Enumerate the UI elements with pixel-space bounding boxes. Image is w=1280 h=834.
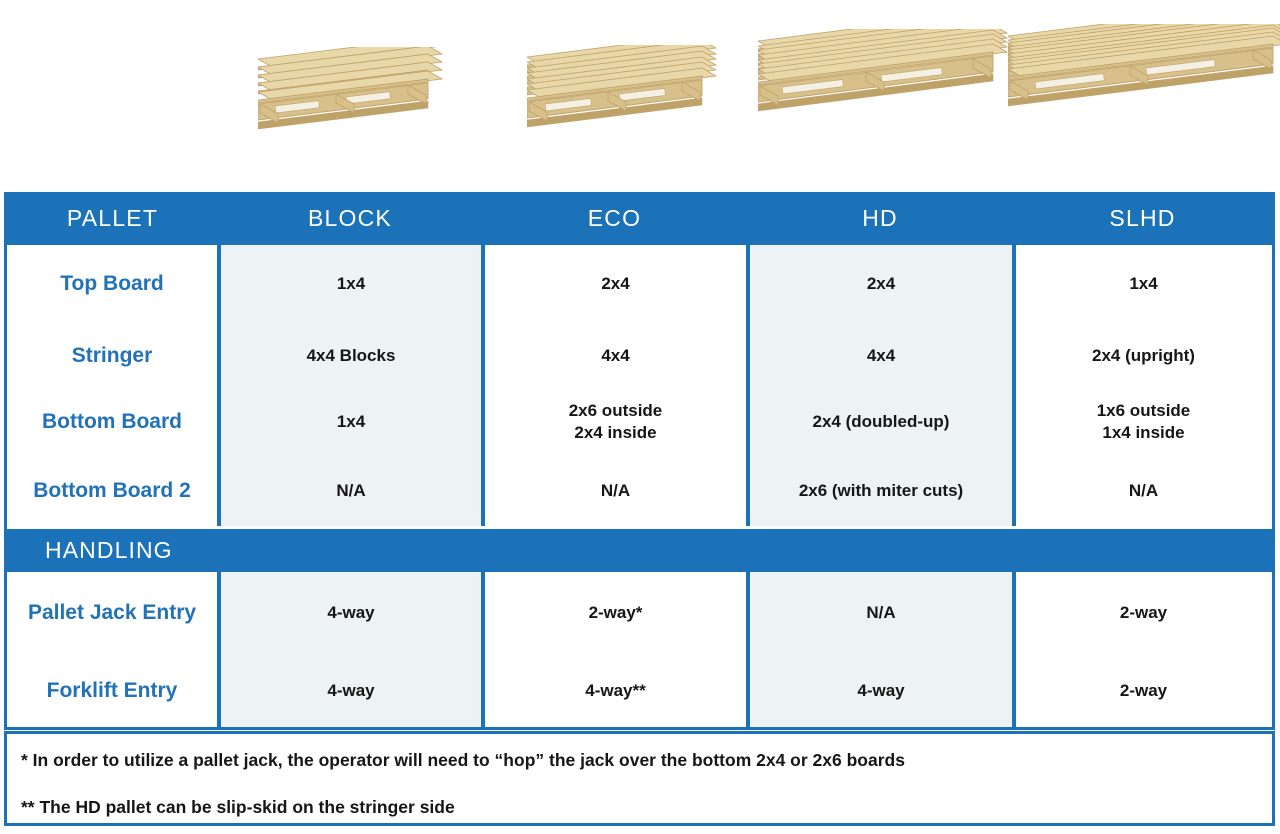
cell-hd-stringer: 4x4 — [750, 323, 1012, 389]
handling-label-forklift-entry: Forklift Entry — [7, 654, 217, 727]
cell-slhd-top-board: 1x4 — [1016, 245, 1271, 323]
cell-block-pallet-jack-entry: 4-way — [221, 572, 481, 654]
cell-block-forklift-entry: 4-way — [221, 654, 481, 727]
cell-eco-top-board: 2x4 — [485, 245, 746, 323]
table-header-row: PALLET BLOCK ECO HD SLHD — [7, 192, 1272, 245]
handling-column-block: 4-way 4-way — [221, 572, 485, 727]
handling-column-hd: N/A 4-way — [750, 572, 1016, 727]
eco-pallet-image — [527, 45, 748, 158]
handling-column-eco: 2-way* 4-way** — [485, 572, 750, 727]
cell-slhd-forklift-entry: 2-way — [1016, 654, 1271, 727]
handling-section: Pallet Jack Entry Forklift Entry 4-way 4… — [7, 572, 1272, 727]
hd-pallet-image — [758, 29, 1039, 160]
footnote-single-asterisk: * In order to utilize a pallet jack, the… — [21, 750, 1272, 771]
cell-hd-top-board: 2x4 — [750, 245, 1012, 323]
spec-label-bottom-board: Bottom Board — [7, 389, 217, 455]
spec-column-hd: 2x4 4x4 2x4 (doubled-up) 2x6 (with miter… — [750, 245, 1016, 526]
cell-slhd-bottom-board: 1x6 outside1x4 inside — [1016, 389, 1271, 455]
spec-column-slhd: 1x4 2x4 (upright) 1x6 outside1x4 inside … — [1016, 245, 1271, 526]
handling-band-label: HANDLING — [7, 537, 218, 564]
spec-label-bottom-board-2: Bottom Board 2 — [7, 455, 217, 526]
cell-eco-bottom-board: 2x6 outside2x4 inside — [485, 389, 746, 455]
cell-slhd-bottom-board-2: N/A — [1016, 455, 1271, 526]
cell-eco-forklift-entry: 4-way** — [485, 654, 746, 727]
cell-hd-forklift-entry: 4-way — [750, 654, 1012, 727]
handling-column-slhd: 2-way 2-way — [1016, 572, 1271, 727]
spec-label-column: Top Board Stringer Bottom Board Bottom B… — [7, 245, 221, 526]
pallet-illustration-strip — [0, 0, 1280, 192]
pallet-spec-table: PALLET BLOCK ECO HD SLHD Top Board Strin… — [4, 192, 1275, 730]
spec-label-stringer: Stringer — [7, 323, 217, 389]
cell-hd-pallet-jack-entry: N/A — [750, 572, 1012, 654]
cell-eco-pallet-jack-entry: 2-way* — [485, 572, 746, 654]
spec-label-top-board: Top Board — [7, 245, 217, 323]
cell-block-bottom-board: 1x4 — [221, 389, 481, 455]
spec-column-eco: 2x4 4x4 2x6 outside2x4 inside N/A — [485, 245, 750, 526]
footnotes-box: * In order to utilize a pallet jack, the… — [4, 731, 1275, 826]
footnote-double-asterisk: ** The HD pallet can be slip-skid on the… — [21, 797, 1272, 818]
slhd-pallet-image — [1008, 24, 1280, 164]
cell-slhd-pallet-jack-entry: 2-way — [1016, 572, 1271, 654]
cell-block-stringer: 4x4 Blocks — [221, 323, 481, 389]
spec-column-block: 1x4 4x4 Blocks 1x4 N/A — [221, 245, 485, 526]
header-col-eco: ECO — [482, 205, 747, 232]
header-col-hd: HD — [747, 205, 1013, 232]
cell-eco-bottom-board-2: N/A — [485, 455, 746, 526]
handling-section-header: HANDLING — [7, 526, 1272, 572]
handling-label-column: Pallet Jack Entry Forklift Entry — [7, 572, 221, 727]
header-label-pallet: PALLET — [7, 205, 218, 232]
pallet-comparison-page: PALLET BLOCK ECO HD SLHD Top Board Strin… — [0, 0, 1280, 834]
cell-hd-bottom-board: 2x4 (doubled-up) — [750, 389, 1012, 455]
cell-hd-bottom-board-2: 2x6 (with miter cuts) — [750, 455, 1012, 526]
block-pallet-image — [258, 47, 474, 158]
header-col-slhd: SLHD — [1013, 205, 1272, 232]
cell-eco-stringer: 4x4 — [485, 323, 746, 389]
handling-label-pallet-jack-entry: Pallet Jack Entry — [7, 572, 217, 654]
cell-block-top-board: 1x4 — [221, 245, 481, 323]
cell-block-bottom-board-2: N/A — [221, 455, 481, 526]
cell-slhd-stringer: 2x4 (upright) — [1016, 323, 1271, 389]
spec-section: Top Board Stringer Bottom Board Bottom B… — [7, 245, 1272, 526]
header-col-block: BLOCK — [218, 205, 482, 232]
